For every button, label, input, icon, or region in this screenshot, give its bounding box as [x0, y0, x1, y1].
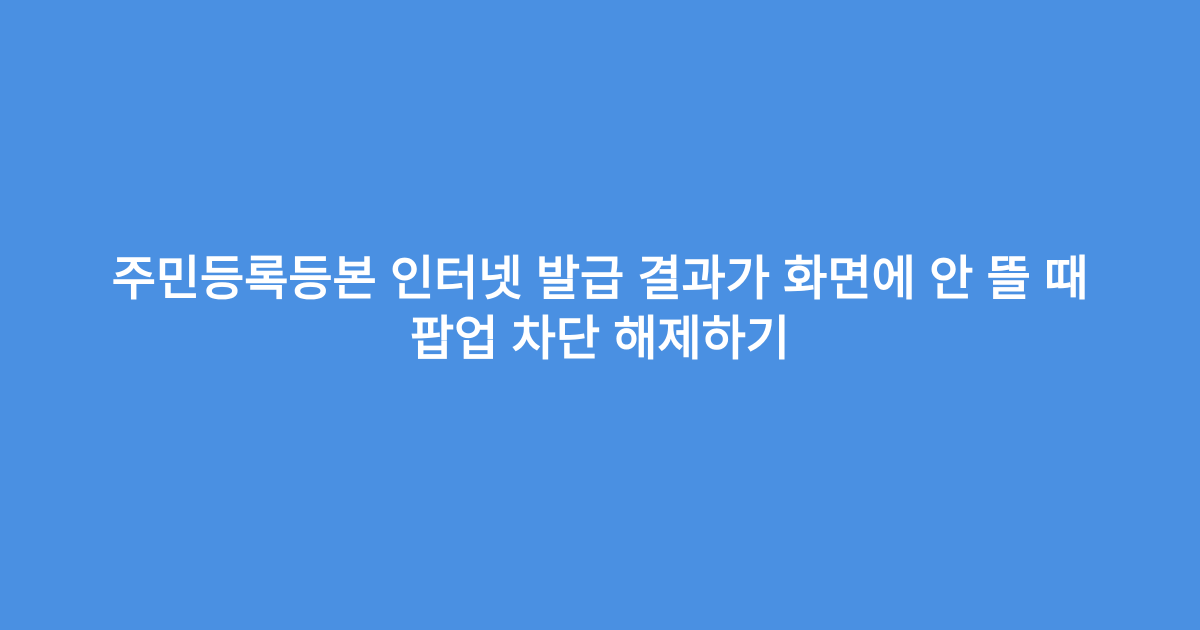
page-title-line-1: 주민등록등본 인터넷 발급 결과가 화면에 안 뜰 때 [40, 250, 1160, 310]
page-title: 주민등록등본 인터넷 발급 결과가 화면에 안 뜰 때 팝업 차단 해제하기 [40, 250, 1160, 370]
thumbnail-card: 주민등록등본 인터넷 발급 결과가 화면에 안 뜰 때 팝업 차단 해제하기 [0, 0, 1200, 630]
page-title-line-2: 팝업 차단 해제하기 [40, 310, 1160, 370]
